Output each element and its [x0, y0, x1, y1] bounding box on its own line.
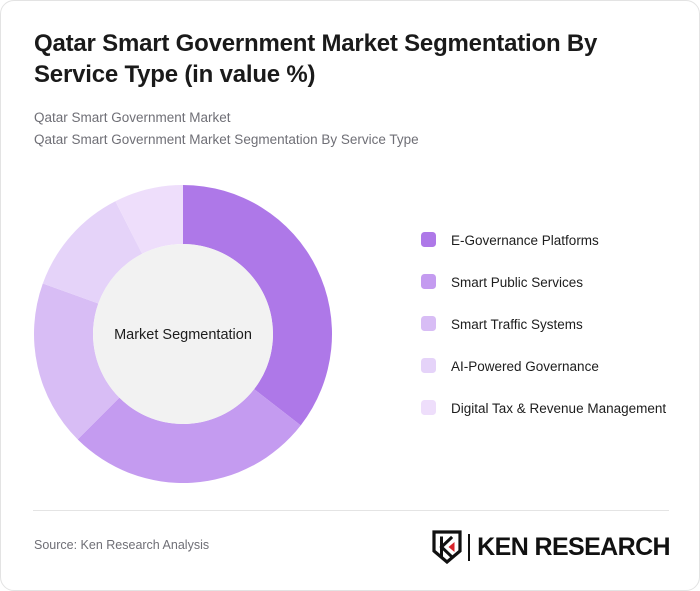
logo-wordmark: KEN RESEARCH	[477, 533, 670, 562]
chart-legend: E-Governance PlatformsSmart Public Servi…	[421, 231, 679, 420]
legend-label: E-Governance Platforms	[451, 231, 599, 252]
page-title: Qatar Smart Government Market Segmentati…	[34, 29, 644, 90]
legend-swatch-icon	[421, 274, 436, 289]
legend-item[interactable]: Digital Tax & Revenue Management	[421, 399, 679, 420]
chart-area: Market Segmentation E-Governance Platfor…	[1, 169, 700, 499]
legend-swatch-icon	[421, 358, 436, 373]
chart-card: Qatar Smart Government Market Segmentati…	[0, 0, 700, 591]
legend-label: AI-Powered Governance	[451, 357, 599, 378]
donut-svg: Market Segmentation	[33, 184, 333, 484]
legend-label: Digital Tax & Revenue Management	[451, 399, 666, 420]
legend-item[interactable]: Smart Traffic Systems	[421, 315, 679, 336]
subtitle-group: Qatar Smart Government Market Qatar Smar…	[34, 107, 644, 151]
legend-swatch-icon	[421, 232, 436, 247]
legend-swatch-icon	[421, 316, 436, 331]
ken-shield-icon	[432, 530, 462, 564]
donut-chart: Market Segmentation	[33, 184, 333, 484]
subtitle-market: Qatar Smart Government Market	[34, 107, 644, 129]
legend-item[interactable]: E-Governance Platforms	[421, 231, 679, 252]
legend-label: Smart Traffic Systems	[451, 315, 583, 336]
subtitle-segmentation: Qatar Smart Government Market Segmentati…	[34, 129, 644, 151]
source-text: Source: Ken Research Analysis	[34, 538, 209, 552]
chart-header: Qatar Smart Government Market Segmentati…	[34, 29, 644, 151]
legend-swatch-icon	[421, 400, 436, 415]
ken-research-logo: KEN RESEARCH	[432, 528, 670, 566]
logo-separator	[468, 534, 470, 561]
donut-center-label: Market Segmentation	[114, 327, 252, 343]
legend-item[interactable]: Smart Public Services	[421, 273, 679, 294]
chart-footer: Source: Ken Research Analysis KEN RESEAR…	[1, 510, 700, 591]
legend-item[interactable]: AI-Powered Governance	[421, 357, 679, 378]
legend-label: Smart Public Services	[451, 273, 583, 294]
